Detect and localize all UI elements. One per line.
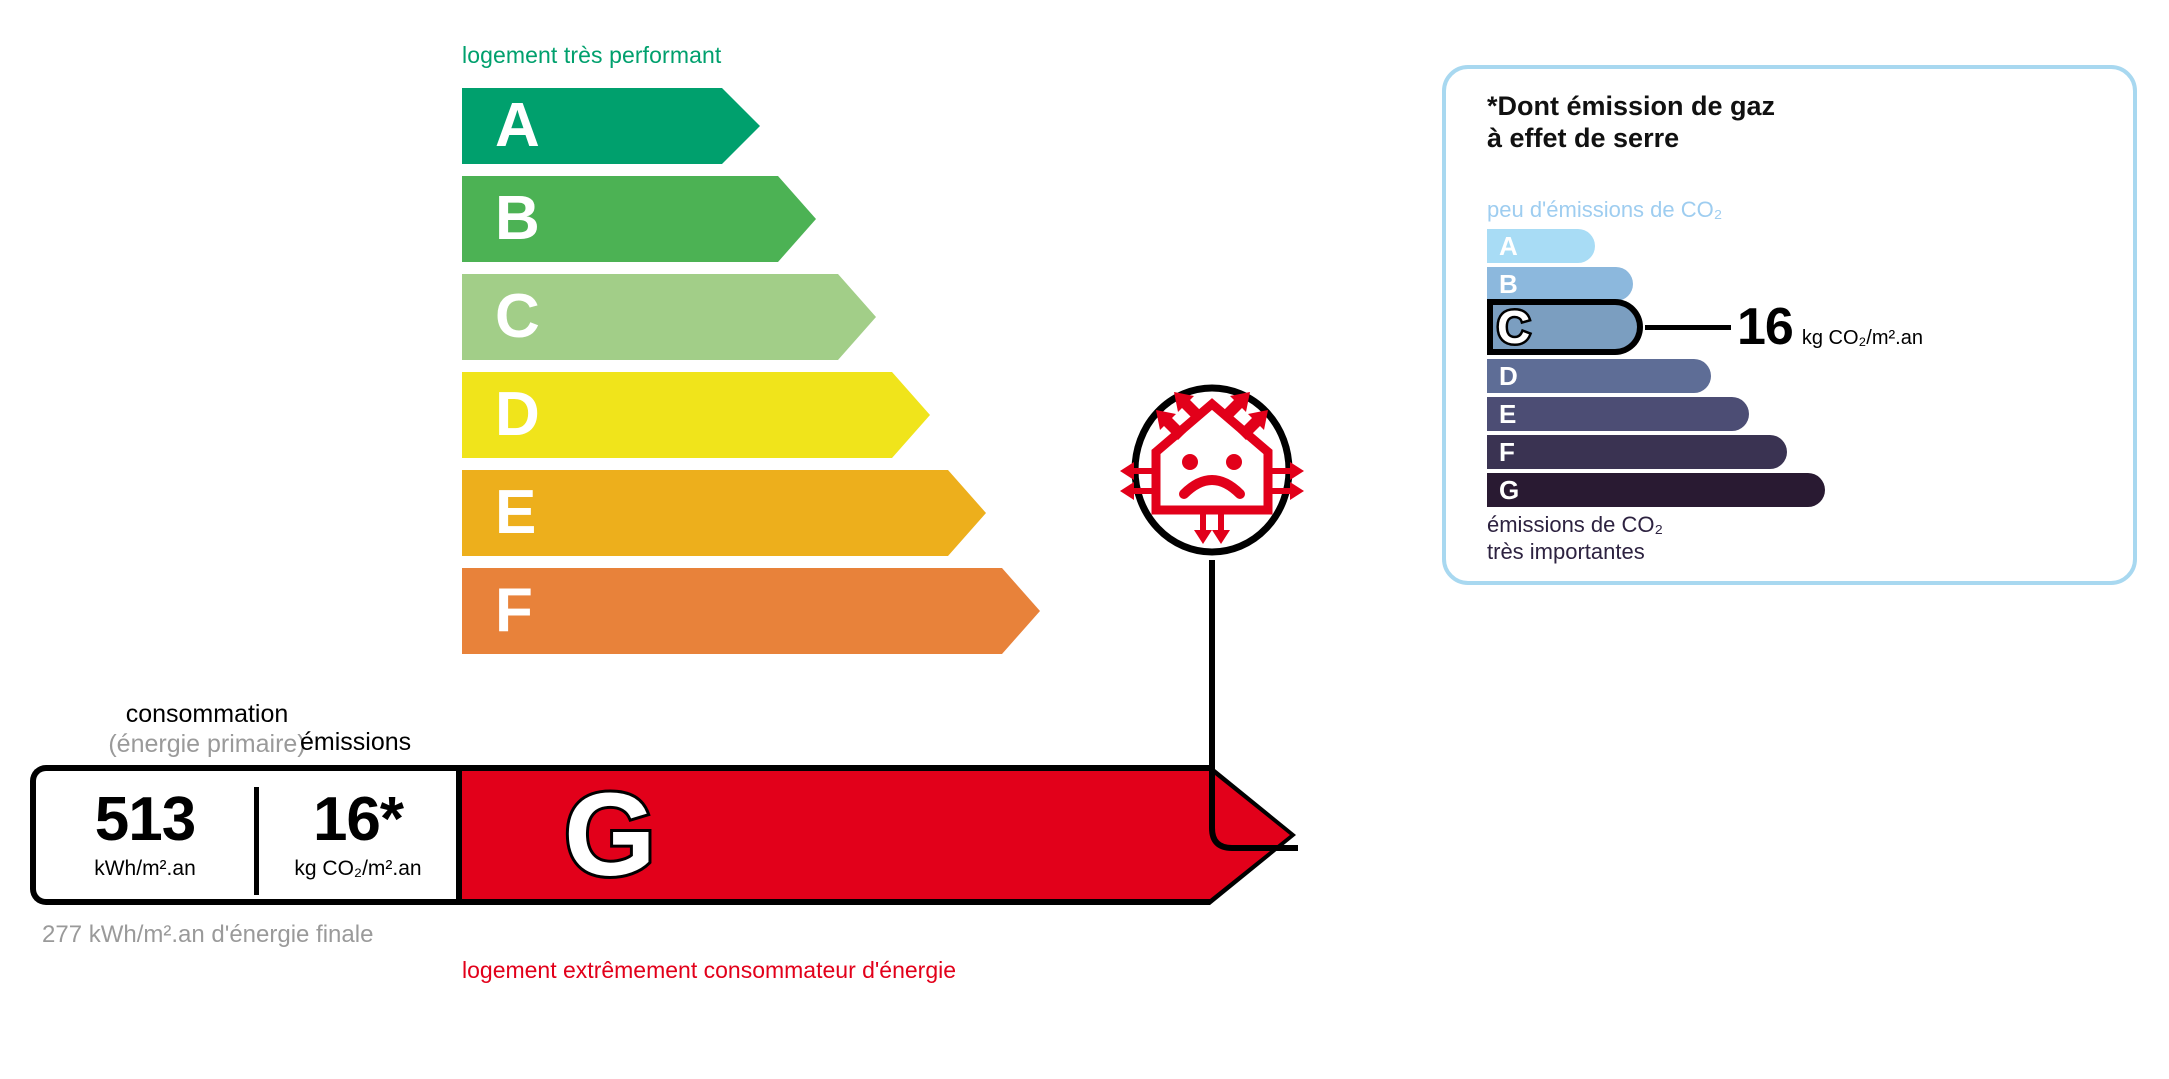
ges-row-a: A (1487, 229, 2087, 263)
energy-scale-top-caption: logement très performant (462, 42, 721, 69)
energy-bar-c: C (462, 274, 876, 360)
ges-bar-a-letter: A (1499, 233, 1518, 259)
primary-energy-value: 513 (95, 789, 195, 851)
ges-bar-d (1487, 359, 1711, 393)
ges-bar-f-letter: F (1499, 439, 1515, 465)
energy-bar-e: E (462, 470, 986, 556)
ges-top-caption: peu d'émissions de CO₂ (1487, 197, 1722, 223)
ges-bar-g-letter: G (1499, 477, 1519, 503)
primary-energy-cell: 513 kWh/m².an (36, 771, 254, 899)
energy-scale-bottom-caption: logement extrêmement consommateur d'éner… (462, 957, 956, 984)
ges-row-d: D (1487, 359, 2087, 393)
dpe-energy-scale-panel: logement très performant A B C D E F con… (0, 0, 1400, 1079)
ges-bar-c-letter: C (1497, 304, 1530, 350)
energy-bar-f: F (462, 568, 1040, 654)
energy-bar-f-letter: F (495, 580, 533, 642)
ges-row-c-selected: C 16 kg CO₂/m².an (1487, 299, 2087, 355)
energy-bar-b-letter: B (495, 188, 540, 250)
ges-bar-d-letter: D (1499, 363, 1518, 389)
consommation-label: consommation (126, 700, 289, 728)
ges-bar-b-letter: B (1499, 271, 1518, 297)
ges-panel: *Dont émission de gaz à effet de serre p… (1442, 65, 2137, 585)
ges-row-g: G (1487, 473, 2087, 507)
ges-bar-e (1487, 397, 1749, 431)
ges-bottom-caption: émissions de CO₂ très importantes (1487, 512, 1663, 566)
ges-row-e: E (1487, 397, 2087, 431)
emissions-header: émissions (300, 728, 411, 757)
ges-value-unit: kg CO₂/m².an (1802, 327, 1923, 350)
energy-bar-a: A (462, 88, 760, 164)
energy-bar-a-letter: A (495, 95, 540, 157)
energy-bar-d: D (462, 372, 930, 458)
emission-cell: 16* kg CO₂/m².an (254, 771, 462, 899)
ges-bar-f (1487, 435, 1787, 469)
energy-bar-d-letter: D (495, 384, 540, 446)
primary-energy-unit: kWh/m².an (94, 857, 196, 881)
ges-row-b: B (1487, 267, 2087, 301)
ges-value-number: 16 (1737, 301, 1793, 353)
selected-grade-row: 513 kWh/m².an 16* kg CO₂/m².an G (30, 765, 1300, 905)
emission-unit: kg CO₂/m².an (294, 857, 421, 881)
ges-bars: A B C 16 kg CO₂/m².an D E F (1487, 229, 2087, 511)
energy-bar-c-letter: C (495, 286, 540, 348)
ges-row-f: F (1487, 435, 2087, 469)
energy-bar-b: B (462, 176, 816, 262)
energy-bar-g: G (456, 765, 1296, 905)
final-energy-note: 277 kWh/m².an d'énergie finale (42, 920, 373, 950)
sad-house-energy-loss-icon (1112, 370, 1312, 570)
energy-bar-e-letter: E (495, 482, 536, 544)
ges-panel-title: *Dont émission de gaz à effet de serre (1487, 91, 1775, 155)
ges-bar-g (1487, 473, 1825, 507)
badge-connector-line (1180, 560, 1300, 860)
energy-bar-g-letter: G (564, 776, 656, 894)
ges-bar-e-letter: E (1499, 401, 1516, 427)
value-box: 513 kWh/m².an 16* kg CO₂/m².an (30, 765, 462, 905)
emission-value: 16* (313, 789, 403, 851)
ges-value-group: 16 kg CO₂/m².an (1737, 301, 1923, 353)
ges-value-leader-line (1645, 325, 1731, 330)
